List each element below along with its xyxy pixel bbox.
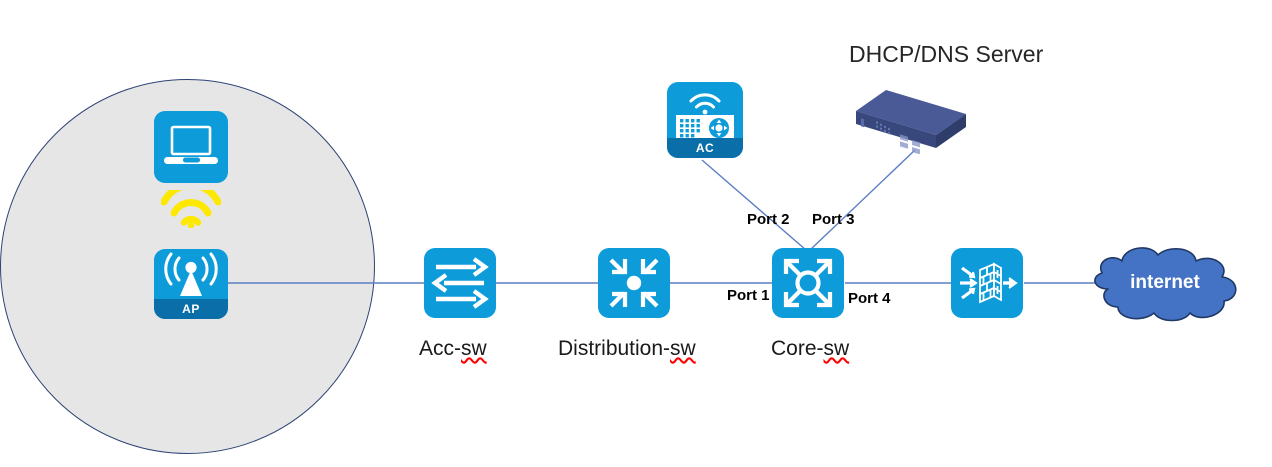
dhcp-dns-server-label: DHCP/DNS Server xyxy=(849,41,1043,68)
wireless-controller-icon[interactable]: AC xyxy=(667,82,743,158)
core-switch-label-suffix: sw xyxy=(824,337,850,360)
access-switch-icon[interactable] xyxy=(424,248,496,318)
port-label-port3: Port 3 xyxy=(812,211,855,228)
distribution-switch-label-prefix: Distribution- xyxy=(558,337,670,360)
access-switch-label-prefix: Acc- xyxy=(419,337,461,360)
core-switch-label: Core-sw xyxy=(771,337,849,361)
firewall-icon[interactable] xyxy=(951,248,1023,318)
distribution-switch-label: Distribution-sw xyxy=(558,337,696,361)
link-server-to-core-sw xyxy=(810,150,915,250)
ap-badge-label: AP xyxy=(154,299,228,319)
port-label-port2: Port 2 xyxy=(747,211,790,228)
distribution-switch-label-suffix: sw xyxy=(670,337,696,360)
link-ac-to-core-sw xyxy=(702,160,806,250)
access-switch-label: Acc-sw xyxy=(419,337,487,361)
core-switch-icon[interactable] xyxy=(772,248,844,318)
port-label-port4: Port 4 xyxy=(848,290,891,307)
distribution-switch-icon[interactable] xyxy=(598,248,670,318)
laptop-icon[interactable] xyxy=(154,111,228,183)
internet-label: internet xyxy=(1080,243,1246,323)
access-switch-label-suffix: sw xyxy=(461,337,487,360)
port-label-port1: Port 1 xyxy=(727,287,770,304)
core-switch-label-prefix: Core- xyxy=(771,337,824,360)
ac-badge-label: AC xyxy=(667,138,743,158)
wifi-signal-icon xyxy=(161,190,221,228)
dhcp-dns-server-icon[interactable] xyxy=(852,88,972,154)
internet-cloud-icon[interactable]: internet xyxy=(1080,243,1246,323)
access-point-icon[interactable]: AP xyxy=(154,249,228,319)
network-diagram-canvas: AP xyxy=(0,0,1272,467)
